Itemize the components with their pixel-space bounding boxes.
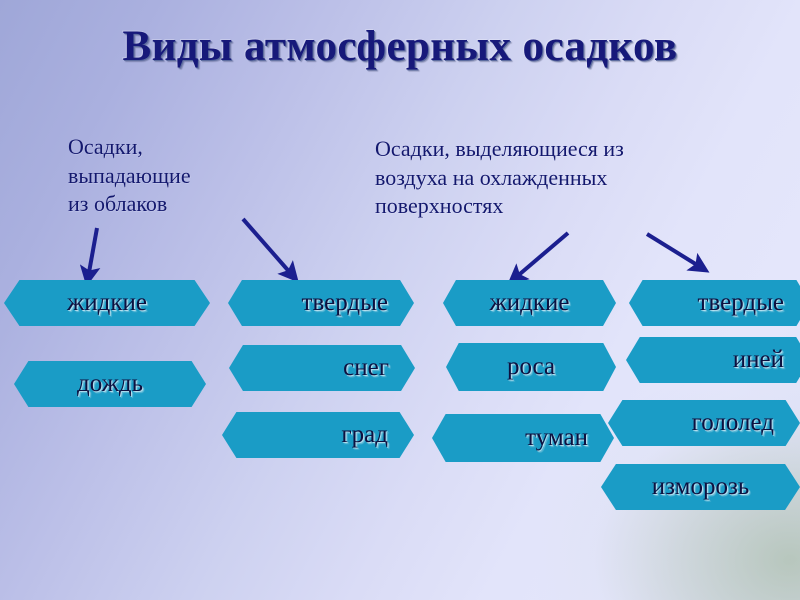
hex-item-dozhd[interactable]: дождь bbox=[14, 361, 206, 407]
hex-label: снег bbox=[343, 354, 389, 382]
hex-item-rosa[interactable]: роса bbox=[446, 343, 616, 391]
hex-label: роса bbox=[507, 353, 555, 381]
caption-precipitation-from-clouds: Осадки, выпадающие из облаков bbox=[68, 133, 298, 219]
caption-right-line-2: воздуха на охлажденных bbox=[375, 164, 745, 193]
hex-label: жидкие bbox=[490, 289, 570, 317]
hex-label: твердые bbox=[302, 289, 388, 317]
hex-label: дождь bbox=[77, 370, 143, 398]
caption-left-line-1: Осадки, bbox=[68, 133, 298, 162]
hex-liquid-from-clouds-heading[interactable]: жидкие bbox=[4, 280, 210, 326]
hex-label: жидкие bbox=[67, 289, 147, 317]
hex-solid-from-air-heading[interactable]: твердые bbox=[629, 280, 800, 326]
hex-solid-from-clouds-heading[interactable]: твердые bbox=[228, 280, 414, 326]
hex-label: иней bbox=[733, 346, 784, 374]
caption-precipitation-from-air: Осадки, выделяющиеся из воздуха на охлаж… bbox=[375, 135, 745, 221]
hex-label: туман bbox=[525, 424, 588, 452]
hex-item-grad[interactable]: град bbox=[222, 412, 414, 458]
hex-label: изморозь bbox=[652, 473, 750, 501]
caption-left-line-2: выпадающие bbox=[68, 162, 298, 191]
caption-left-line-3: из облаков bbox=[68, 190, 298, 219]
hex-label: град bbox=[341, 421, 388, 449]
hex-label: твердые bbox=[698, 289, 784, 317]
hex-item-izmoroz[interactable]: изморозь bbox=[601, 464, 800, 510]
slide-canvas: Виды атмосферных осадков Осадки, выпадаю… bbox=[0, 0, 800, 600]
arrow-to-solid-surface-icon bbox=[647, 234, 702, 268]
caption-right-line-1: Осадки, выделяющиеся из bbox=[375, 135, 745, 164]
page-title: Виды атмосферных осадков bbox=[0, 22, 800, 71]
hex-item-inej[interactable]: иней bbox=[626, 337, 800, 383]
hex-item-sneg[interactable]: снег bbox=[229, 345, 415, 391]
arrow-to-solid-clouds-icon bbox=[243, 219, 293, 276]
arrow-to-liquid-surface-icon bbox=[514, 233, 568, 279]
hex-item-tuman[interactable]: туман bbox=[432, 414, 614, 462]
hex-label: гололед bbox=[692, 409, 774, 437]
arrow-to-liquid-clouds-icon bbox=[88, 228, 97, 278]
caption-right-line-3: поверхностях bbox=[375, 192, 745, 221]
hex-item-gololed[interactable]: гололед bbox=[608, 400, 800, 446]
hex-liquid-from-air-heading[interactable]: жидкие bbox=[443, 280, 616, 326]
